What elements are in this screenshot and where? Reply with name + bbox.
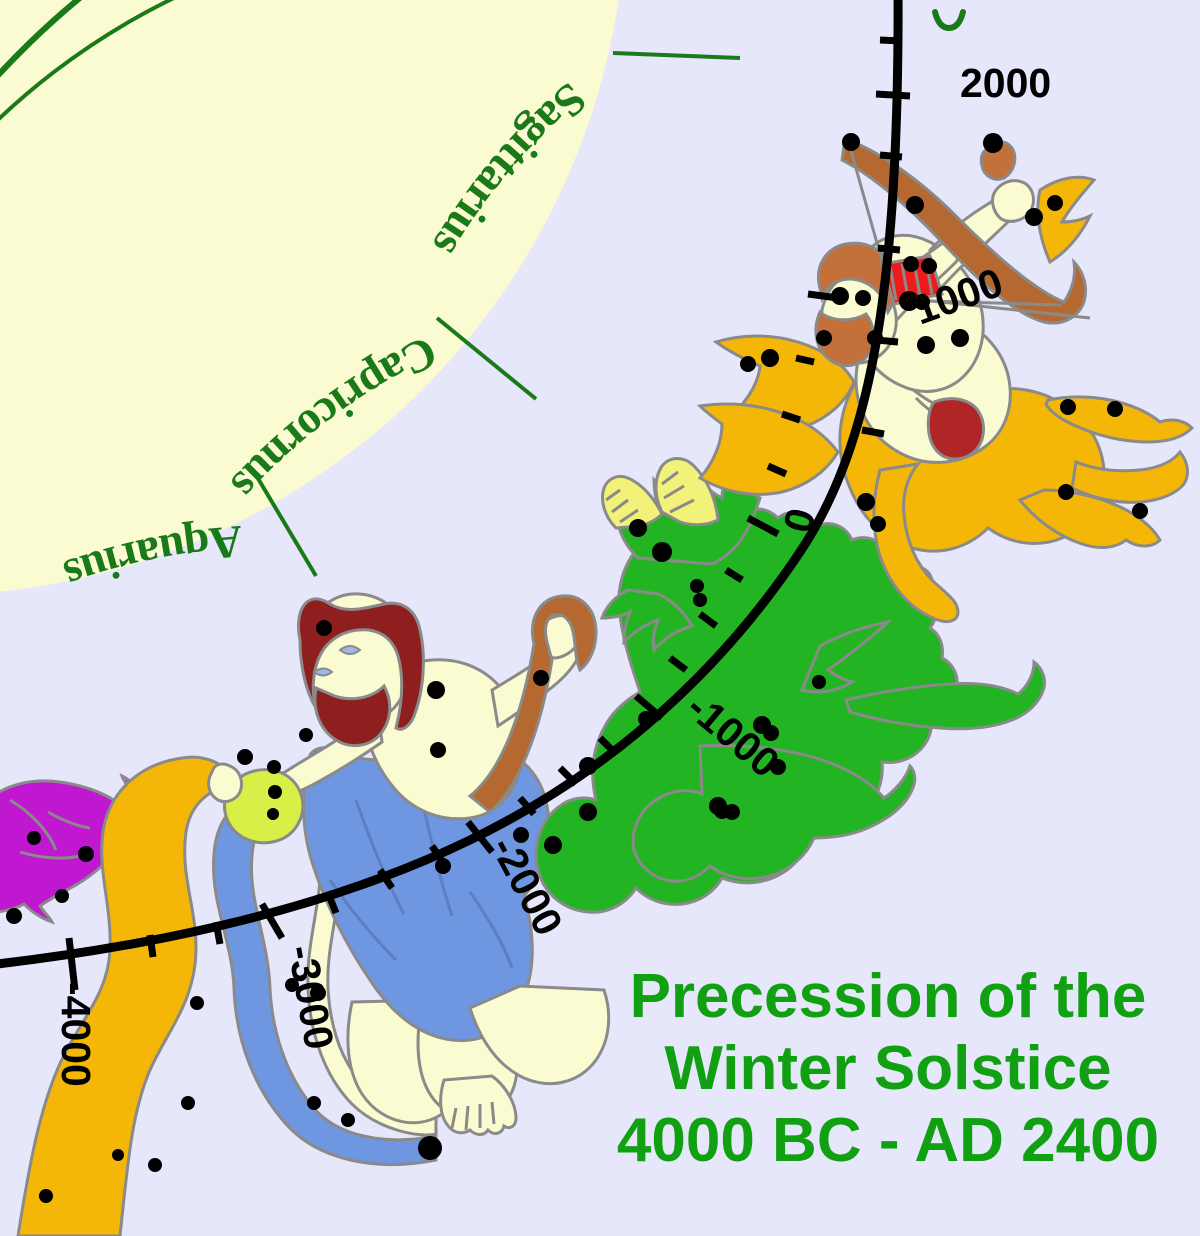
diagram-canvas: Sagittarius Capricornus Aquarius xyxy=(0,0,1200,1236)
figure-title: Precession of the Winter Solstice 4000 B… xyxy=(617,962,1159,1175)
aquarius-eye xyxy=(340,646,360,654)
title-line-2: Winter Solstice xyxy=(664,1034,1111,1103)
sagittarius-hip-cloth xyxy=(928,399,983,459)
aquarius-vessel-rim xyxy=(209,764,242,802)
title-line-1: Precession of the xyxy=(630,962,1147,1031)
title-line-3: 4000 BC - AD 2400 xyxy=(617,1106,1159,1175)
year-label-minus-4000: -4000 xyxy=(53,982,99,1087)
precession-diagram: Sagittarius Capricornus Aquarius xyxy=(0,0,1200,1236)
year-label-2000: 2000 xyxy=(960,60,1051,106)
aquarius-eye-2 xyxy=(314,669,332,676)
